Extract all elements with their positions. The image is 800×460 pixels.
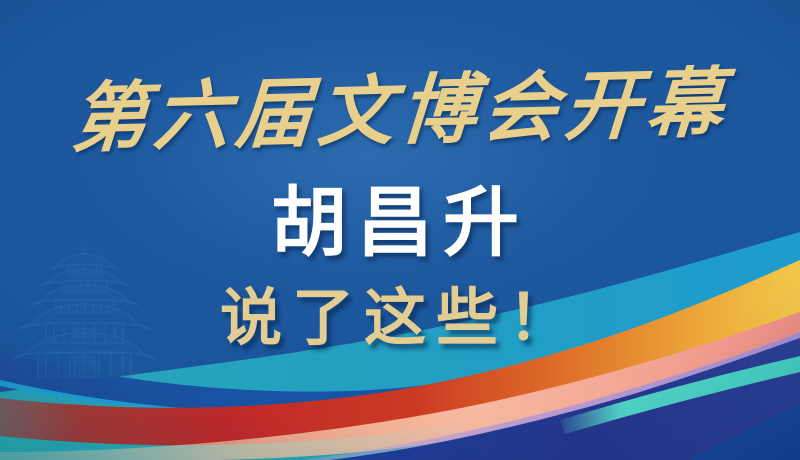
subheadline: 说了这些！: [0, 288, 800, 350]
poster-banner: 第六届文博会开幕 胡昌升 说了这些！: [0, 0, 800, 460]
person-name: 胡昌升: [0, 186, 800, 262]
headline-calligraphy: 第六届文博会开幕: [0, 64, 800, 160]
